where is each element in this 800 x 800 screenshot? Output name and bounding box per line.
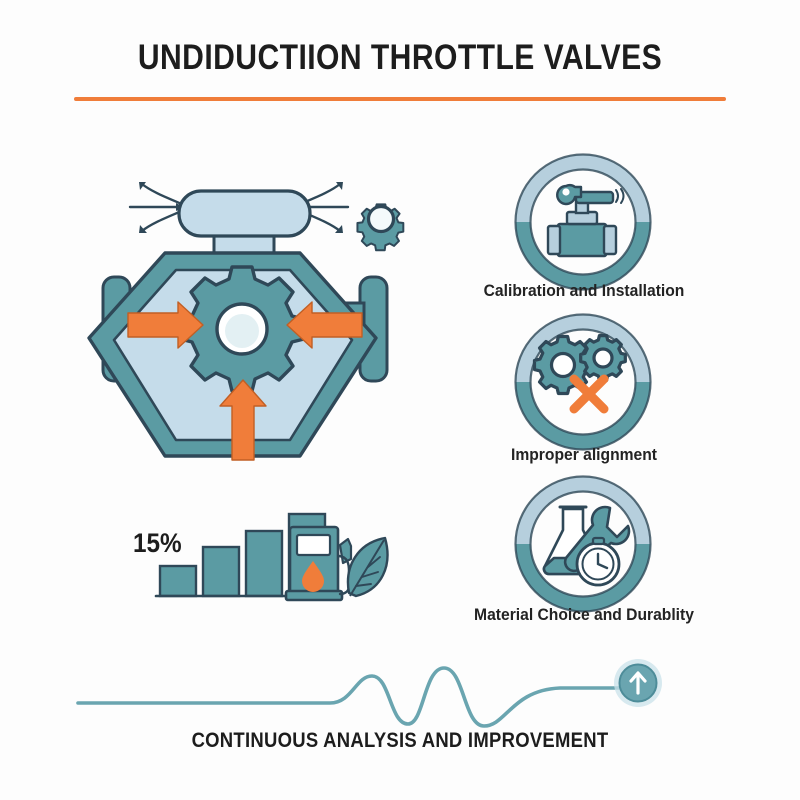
progress-wave-line	[78, 668, 628, 726]
up-arrow-circle-icon[interactable]	[614, 659, 662, 707]
infographic-canvas: UNDIDUCTIION THROTTLE VALVES	[0, 0, 800, 800]
footer-caption: CONTINUOUS ANALYSIS AND IMPROVEMENT	[48, 729, 752, 753]
footer-wave-layer	[0, 0, 800, 800]
